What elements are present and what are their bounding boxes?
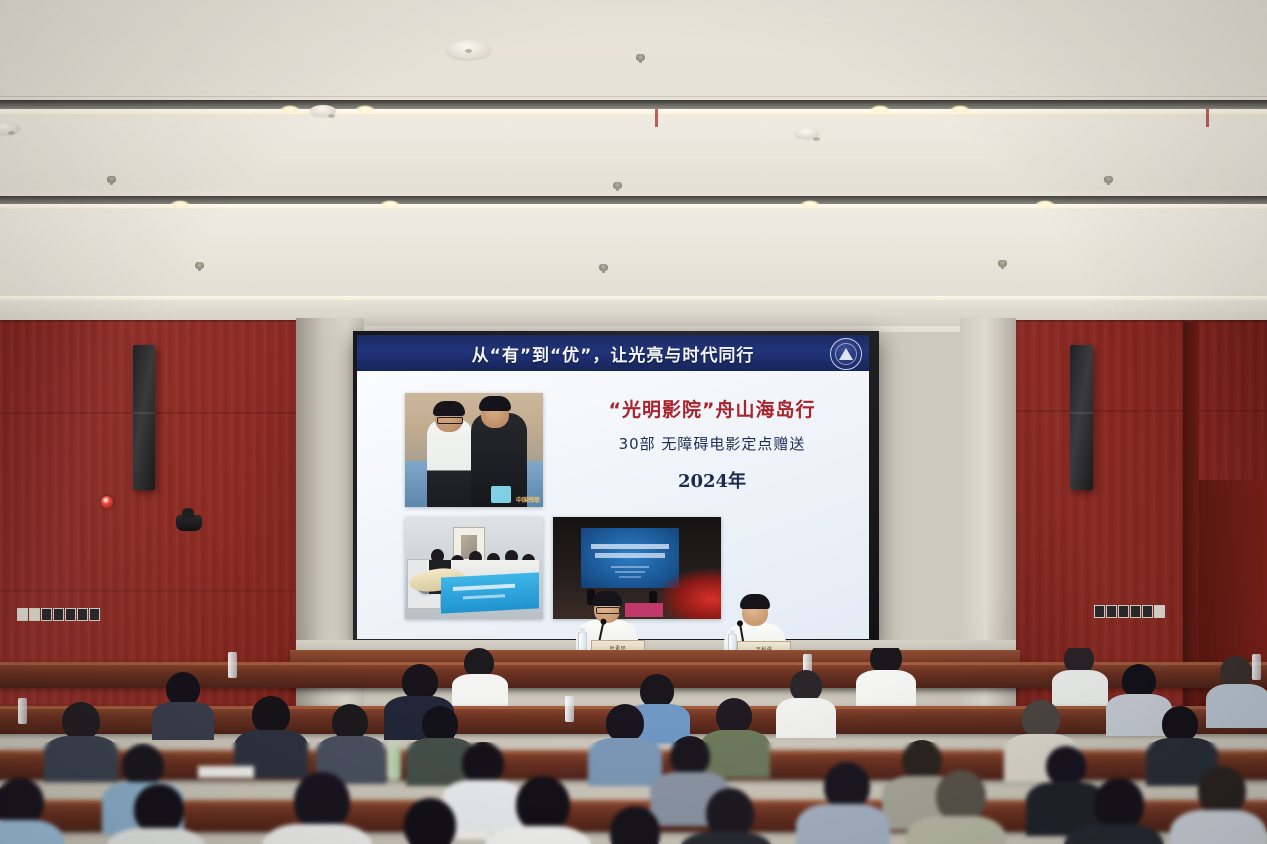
sprinkler-icon <box>1104 176 1113 183</box>
sprinkler-icon <box>195 262 204 269</box>
slide-headline: “光明影院”舟山海岛行 <box>562 395 862 422</box>
ceiling-coffer-2 <box>0 196 1267 296</box>
power-outlet-panel-left-2[interactable] <box>77 608 100 621</box>
water-bottle <box>18 698 27 724</box>
slide-subline: 30部 无障碍电影定点赠送 <box>562 433 862 454</box>
slide-title-bar: 从“有”到“优”，让光亮与时代同行 <box>357 335 869 371</box>
slide-year: 2024年 <box>562 467 862 493</box>
water-bottle <box>565 696 574 722</box>
sprinkler-icon <box>107 176 116 183</box>
smoke-detector-icon <box>447 40 491 59</box>
column-speaker-right <box>1070 345 1093 490</box>
water-bottle <box>228 652 237 678</box>
ceiling <box>0 0 1267 332</box>
wall-camera-icon <box>176 515 202 531</box>
fire-alarm-bell-icon <box>101 496 113 508</box>
conference-hall-photo: 从“有”到“优”，让光亮与时代同行 中国残联 <box>0 0 1267 844</box>
paper-document <box>198 766 254 778</box>
slide-title: 从“有”到“优”，让光亮与时代同行 <box>472 341 755 366</box>
audience-area <box>0 648 1267 844</box>
power-outlet-panel-left[interactable] <box>17 608 76 621</box>
power-outlet-panel-right[interactable] <box>1094 605 1165 618</box>
university-emblem-icon <box>830 338 862 370</box>
sprinkler-icon <box>613 182 622 189</box>
thermos-flask <box>387 746 401 780</box>
sprinkler-icon <box>599 264 608 271</box>
ceiling-coffer-1 <box>0 100 1267 196</box>
sprinkler-icon <box>636 54 645 61</box>
water-bottle <box>1252 654 1261 680</box>
column-speaker-left <box>133 345 155 490</box>
slide-photo-two-men-sofa: 中国残联 <box>405 393 543 507</box>
slide-photo-group-banner <box>405 517 543 619</box>
sprinkler-icon <box>998 260 1007 267</box>
photo-watermark: 中国残联 <box>516 495 540 504</box>
